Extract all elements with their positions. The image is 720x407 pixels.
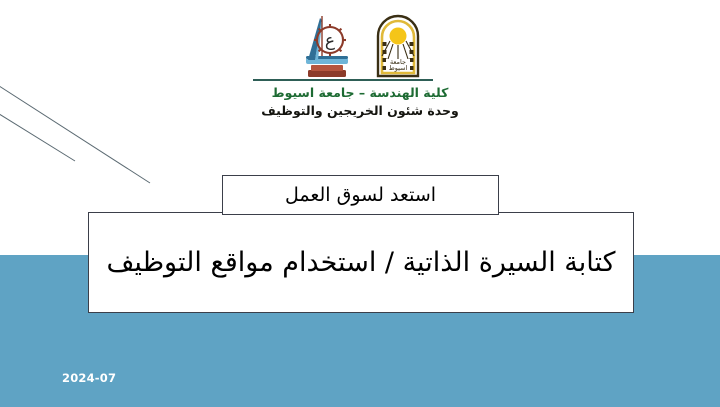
header-text-block: كلية الهندسة – جامعة اسيوط وحدة شئون الخ… <box>160 84 560 120</box>
presentation-slide: ع <box>0 0 720 407</box>
date-label: 2024-07 <box>62 371 116 385</box>
subtitle-text: استعد لسوق العمل <box>285 186 436 205</box>
svg-text:ع: ع <box>325 31 335 51</box>
assiut-university-logo: جامعة اسيوط <box>372 12 424 80</box>
faculty-of-engineering-assiut-logo: ع <box>296 12 358 80</box>
subtitle-box: استعد لسوق العمل <box>222 175 499 215</box>
title-box: كتابة السيرة الذاتية / استخدام مواقع الت… <box>88 212 634 313</box>
header-logos: ع <box>0 8 720 80</box>
unit-name-line: وحدة شئون الخريجين والتوظيف <box>160 102 560 120</box>
svg-text:اسيوط: اسيوط <box>389 64 408 72</box>
faculty-name-line: كلية الهندسة – جامعة اسيوط <box>160 84 560 102</box>
header-divider <box>253 79 433 81</box>
title-text: كتابة السيرة الذاتية / استخدام مواقع الت… <box>106 246 615 280</box>
